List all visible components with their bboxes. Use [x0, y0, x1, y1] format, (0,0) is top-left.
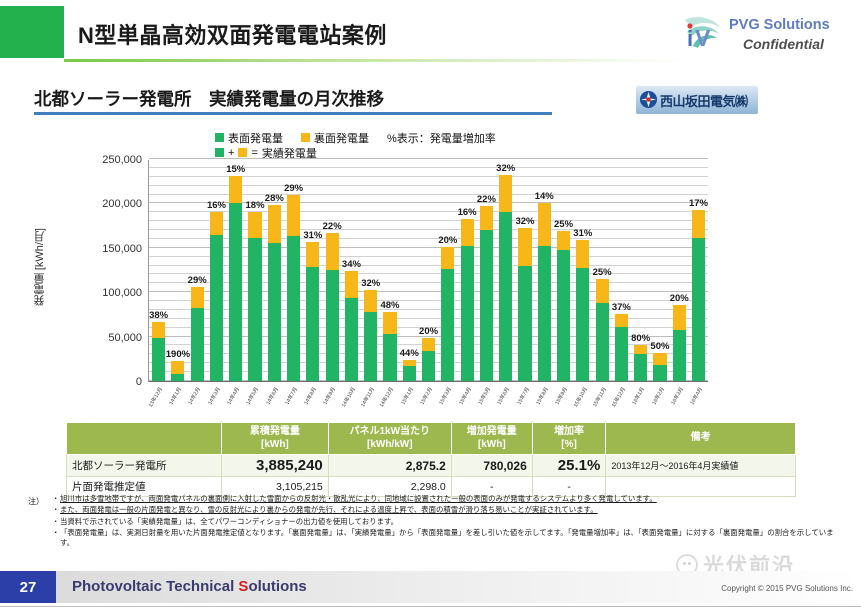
bar-percent-label: 28%: [265, 193, 284, 204]
bar-slot[interactable]: 17%: [689, 160, 708, 381]
bar-stack[interactable]: 15%: [229, 176, 242, 381]
bar-percent-label: 22%: [323, 221, 342, 232]
bar-slot[interactable]: 16%: [207, 160, 226, 381]
bar-slot[interactable]: 20%: [419, 160, 438, 381]
x-axis-tick-label: 14年2月: [187, 386, 203, 406]
bar-segment-back[interactable]: [576, 240, 589, 268]
bar-segment-front[interactable]: [518, 266, 531, 381]
x-axis-tick-label: 16年2月: [650, 386, 666, 406]
bar-slot[interactable]: 37%: [612, 160, 631, 381]
x-axis-label-slot: 16年2月: [650, 384, 669, 410]
bar-percent-label: 44%: [400, 348, 419, 359]
footnote-text: また、両面発電は一般の片面発電と異なり、雪の反射光により裏からの発電が先行、それ…: [60, 505, 838, 515]
x-axis-tick-label: 15年5月: [476, 386, 492, 406]
page-number: 27: [0, 571, 56, 603]
y-axis-tick-label: 150,000: [102, 243, 142, 255]
page-title: N型単晶高効双面発電電站案例: [78, 18, 387, 50]
legend-label-front: 表面発電量: [228, 130, 283, 146]
bar-slot[interactable]: 29%: [284, 160, 303, 381]
x-axis-tick-label: 14年10月: [340, 386, 357, 408]
y-axis-tick-label: 250,000: [102, 154, 142, 166]
x-axis-label-slot: 14年7月: [283, 384, 302, 410]
x-axis-tick-label: 14年11月: [359, 386, 376, 408]
x-axis-tick-label: 13年12月: [147, 386, 164, 408]
header-divider: [64, 59, 684, 62]
x-axis-tick-label: 15年12月: [610, 386, 627, 408]
bar-segment-front[interactable]: [634, 354, 647, 381]
bar-percent-label: 22%: [477, 194, 496, 205]
bar-segment-front[interactable]: [615, 327, 628, 381]
bar-stack[interactable]: 50%: [653, 353, 666, 381]
x-axis-tick-label: 14年8月: [303, 386, 319, 406]
pvg-logo: i V PVG Solutions Confidential: [671, 10, 851, 60]
bar-percent-label: 38%: [149, 310, 168, 321]
bar-segment-front[interactable]: [326, 270, 339, 381]
bar-segment-back[interactable]: [210, 212, 223, 235]
x-axis-tick-label: 16年1月: [631, 386, 647, 406]
bar-stack[interactable]: 16%: [210, 212, 223, 381]
bar-segment-front[interactable]: [576, 268, 589, 381]
table-header-cell: パネル1kW当たり[kWh/kW]: [328, 423, 451, 455]
table-header-cell: 増加発電量[kWh]: [451, 423, 532, 455]
footnote-text: 「表面発電量」は、実測日射量を用いた片面発電推定値となります。「裏面発電量」は、…: [60, 528, 838, 548]
x-axis-tick-label: 14年6月: [264, 386, 280, 406]
x-axis-label-slot: 14年4月: [225, 384, 244, 410]
bar-percent-label: 50%: [650, 341, 669, 352]
bar-percent-label: 80%: [631, 333, 650, 344]
bar-segment-back[interactable]: [596, 279, 609, 303]
bar-slot[interactable]: 48%: [380, 160, 399, 381]
bar-percent-label: 15%: [226, 164, 245, 175]
bar-segment-back[interactable]: [229, 176, 242, 203]
x-axis-tick-label: 15年2月: [419, 386, 435, 406]
x-axis-label-slot: 15年2月: [418, 384, 437, 410]
table-header-cell: 増加率[%]: [532, 423, 606, 455]
bar-segment-back[interactable]: [287, 195, 300, 237]
bar-segment-back[interactable]: [461, 219, 474, 246]
bar-stack[interactable]: 34%: [345, 271, 358, 381]
bar-segment-front[interactable]: [248, 238, 261, 381]
bar-stack[interactable]: 37%: [615, 314, 628, 381]
copyright-notice: Copyright © 2015 PVG Solutions Inc.: [721, 584, 853, 593]
bar-segment-back[interactable]: [480, 206, 493, 230]
bar-slot[interactable]: 28%: [265, 160, 284, 381]
bar-stack[interactable]: 31%: [306, 242, 319, 381]
svg-text:i: i: [687, 26, 693, 51]
x-axis-label-slot: 15年12月: [612, 384, 631, 410]
bar-segment-back[interactable]: [557, 231, 570, 250]
bar-slot[interactable]: 190%: [168, 160, 187, 381]
bar-segment-back[interactable]: [345, 271, 358, 298]
bar-segment-back[interactable]: [673, 305, 686, 331]
legend-swatch-front-icon: [215, 133, 224, 142]
bar-percent-label: 32%: [496, 163, 515, 174]
x-axis-labels: 13年12月14年1月14年2月14年3月14年4月14年5月14年6月14年7…: [148, 384, 708, 410]
x-axis-label-slot: 14年9月: [322, 384, 341, 410]
bar-percent-label: 31%: [303, 230, 322, 241]
legend-row-primary: 表面発電量 裏面発電量 %表示：発電量増加率: [215, 130, 496, 145]
y-axis-tick-label: 200,000: [102, 198, 142, 210]
table-body: 北都ソーラー発電所3,885,2402,875.2780,02625.1%201…: [67, 455, 796, 497]
bar-stack[interactable]: 32%: [499, 175, 512, 381]
bar-stack[interactable]: 17%: [692, 210, 705, 381]
table-header-cell: [67, 423, 222, 455]
x-axis-label-slot: 14年1月: [167, 384, 186, 410]
bar-segment-front[interactable]: [499, 212, 512, 381]
x-axis-label-slot: 14年8月: [303, 384, 322, 410]
bar-segment-back[interactable]: [326, 233, 339, 270]
bar-percent-label: 20%: [419, 326, 438, 337]
bar-segment-back[interactable]: [441, 247, 454, 269]
footnote-bullet-icon: ・: [52, 505, 60, 515]
x-axis-label-slot: 15年4月: [457, 384, 476, 410]
bar-percent-label: 190%: [166, 349, 190, 360]
bar-percent-label: 29%: [188, 275, 207, 286]
svg-text:V: V: [695, 25, 711, 51]
bar-stack[interactable]: 28%: [268, 205, 281, 381]
bar-segment-front[interactable]: [229, 203, 242, 381]
chart: 発電量 [kWh/月] 050,000100,000150,000200,000…: [30, 152, 720, 410]
chart-title-divider: [34, 112, 552, 115]
x-axis-tick-label: 14年12月: [378, 386, 395, 408]
bar-segment-back[interactable]: [191, 287, 204, 308]
bar-slot[interactable]: 32%: [515, 160, 534, 381]
y-axis-tick-label: 100,000: [102, 287, 142, 299]
bar-stack[interactable]: 14%: [538, 203, 551, 381]
bar-segment-front[interactable]: [306, 267, 319, 381]
bar-stack[interactable]: 16%: [461, 219, 474, 381]
x-axis-label-slot: 16年1月: [631, 384, 650, 410]
x-axis-label-slot: 15年10月: [573, 384, 592, 410]
footer-title-pre: Photovoltaic Technical: [72, 578, 238, 595]
bar-slot[interactable]: 32%: [496, 160, 515, 381]
x-axis-label-slot: 14年11月: [360, 384, 379, 410]
bar-slot[interactable]: 44%: [400, 160, 419, 381]
chart-title: 北都ソーラー発電所 実績発電量の月次推移: [34, 86, 384, 111]
bar-segment-front[interactable]: [422, 351, 435, 381]
table-row: 北都ソーラー発電所3,885,2402,875.2780,02625.1%201…: [67, 455, 796, 477]
x-axis-label-slot: 15年6月: [496, 384, 515, 410]
footnote-item: ・また、両面発電は一般の片面発電と異なり、雪の反射光により裏からの発電が先行、そ…: [52, 505, 838, 515]
bar-stack[interactable]: 18%: [248, 212, 261, 381]
pvg-logo-icon: i V: [679, 12, 727, 56]
bar-percent-label: 34%: [342, 259, 361, 270]
bar-slot[interactable]: 18%: [245, 160, 264, 381]
x-axis-label-slot: 15年3月: [438, 384, 457, 410]
bar-segment-back[interactable]: [615, 314, 628, 327]
bar-percent-label: 16%: [207, 200, 226, 211]
table-header-row: 累積発電量[kWh]パネル1kW当たり[kWh/kW]増加発電量[kWh]増加率…: [67, 423, 796, 455]
x-axis-label-slot: 15年1月: [399, 384, 418, 410]
x-axis-tick-label: 16年4月: [689, 386, 705, 406]
x-axis-label-slot: 15年5月: [476, 384, 495, 410]
bar-percent-label: 20%: [670, 293, 689, 304]
bar-slot[interactable]: 80%: [631, 160, 650, 381]
bar-slot[interactable]: 31%: [573, 160, 592, 381]
y-axis-tick-label: 0: [136, 376, 142, 388]
bar-stack[interactable]: 22%: [326, 233, 339, 381]
footer-title-accent: S: [238, 578, 248, 595]
footnote-text: 当資料で示されている「実績発電量」は、全てパワーコンディショナーの出力値を使用し…: [60, 517, 838, 527]
footnote-item: ・旭川市は多雪地帯ですが、両面発電パネルの裏面側に入射した雪面からの反射光・散乱…: [52, 494, 838, 504]
bar-segment-back[interactable]: [653, 353, 666, 365]
bar-stack[interactable]: 44%: [403, 360, 416, 381]
bar-stack[interactable]: 25%: [596, 279, 609, 381]
bar-stack[interactable]: 32%: [364, 290, 377, 381]
footnotes-label: 注）: [28, 496, 44, 507]
bar-stack[interactable]: 38%: [152, 322, 165, 381]
legend-label-back: 裏面発電量: [314, 130, 369, 146]
bar-segment-front[interactable]: [461, 246, 474, 381]
x-axis-label-slot: 14年2月: [187, 384, 206, 410]
x-axis-label-slot: 16年3月: [669, 384, 688, 410]
summary-table: 累積発電量[kWh]パネル1kW当たり[kWh/kW]増加発電量[kWh]増加率…: [66, 422, 796, 497]
bar-segment-front[interactable]: [364, 312, 377, 381]
bar-slot[interactable]: 31%: [303, 160, 322, 381]
bar-segment-front[interactable]: [692, 238, 705, 381]
x-axis-tick-label: 14年7月: [283, 386, 299, 406]
bar-segment-front[interactable]: [171, 374, 184, 381]
bar-segment-front[interactable]: [403, 366, 416, 381]
table-header-cell: 備考: [606, 423, 796, 455]
x-axis-label-slot: 15年9月: [554, 384, 573, 410]
bar-percent-label: 18%: [246, 200, 265, 211]
bar-percent-label: 14%: [535, 191, 554, 202]
partner-logo-text: 西山坂田電気㈱: [660, 91, 748, 110]
bar-segment-front[interactable]: [538, 246, 551, 381]
bar-segment-back[interactable]: [268, 205, 281, 243]
row-label: 北都ソーラー発電所: [67, 455, 222, 477]
bar-stack[interactable]: 31%: [576, 240, 589, 381]
bar-slot[interactable]: 50%: [650, 160, 669, 381]
footer-title: Photovoltaic Technical Solutions: [72, 578, 307, 595]
increase-value: 780,026: [451, 455, 532, 477]
bar-percent-label: 32%: [361, 278, 380, 289]
table-head: 累積発電量[kWh]パネル1kW当たり[kWh/kW]増加発電量[kWh]増加率…: [67, 423, 796, 455]
bar-slot[interactable]: 29%: [188, 160, 207, 381]
x-axis-tick-label: 15年11月: [591, 386, 608, 408]
bar-percent-label: 20%: [438, 235, 457, 246]
bar-slot[interactable]: 25%: [554, 160, 573, 381]
bar-slot[interactable]: 22%: [323, 160, 342, 381]
bar-segment-front[interactable]: [210, 235, 223, 381]
pvg-logo-text: PVG Solutions: [729, 17, 830, 33]
x-axis-tick-label: 15年3月: [438, 386, 454, 406]
legend-note-percent: %表示：発電量増加率: [387, 130, 496, 146]
cumulative-value: 3,885,240: [222, 455, 329, 477]
bar-slot[interactable]: 16%: [458, 160, 477, 381]
bar-segment-front[interactable]: [152, 338, 165, 381]
x-axis-tick-label: 16年3月: [670, 386, 686, 406]
legend-swatch-back-icon: [301, 133, 310, 142]
bar-slot[interactable]: 14%: [535, 160, 554, 381]
bar-segment-back[interactable]: [634, 345, 647, 355]
bar-slot[interactable]: 20%: [438, 160, 457, 381]
y-axis-title: 発電量 [kWh/月]: [32, 228, 48, 306]
bar-segment-front[interactable]: [653, 365, 666, 381]
note-value: 2013年12月～2016年4月実績値: [606, 455, 796, 477]
bar-segment-back[interactable]: [152, 322, 165, 338]
bar-percent-label: 25%: [593, 267, 612, 278]
bar-slot[interactable]: 34%: [342, 160, 361, 381]
x-axis-tick-label: 15年10月: [572, 386, 589, 408]
bar-stack[interactable]: 20%: [441, 247, 454, 381]
partner-logo-icon: [639, 90, 658, 109]
footnote-text: 旭川市は多雪地帯ですが、両面発電パネルの裏面側に入射した雪面からの反射光・散乱光…: [60, 494, 838, 504]
x-axis-tick-label: 15年7月: [515, 386, 531, 406]
x-axis-tick-label: 14年9月: [322, 386, 338, 406]
footnotes: 注） ・旭川市は多雪地帯ですが、両面発電パネルの裏面側に入射した雪面からの反射光…: [28, 494, 838, 550]
bar-percent-label: 25%: [554, 219, 573, 230]
bar-stack[interactable]: 22%: [480, 206, 493, 381]
y-axis-ticks: 050,000100,000150,000200,000250,000: [70, 152, 146, 390]
bar-segment-front[interactable]: [596, 303, 609, 381]
plot-area: 38%190%29%16%15%18%28%29%31%22%34%32%48%…: [148, 160, 708, 382]
x-axis-tick-label: 15年1月: [399, 386, 415, 406]
bar-segment-front[interactable]: [383, 334, 396, 381]
footnote-item: ・「表面発電量」は、実測日射量を用いた片面発電推定値となります。「裏面発電量」は…: [52, 528, 838, 548]
x-axis-label-slot: 13年12月: [148, 384, 167, 410]
per-kw-value: 2,875.2: [328, 455, 451, 477]
bar-slot[interactable]: 15%: [226, 160, 245, 381]
bar-segment-front[interactable]: [191, 308, 204, 381]
bar-percent-label: 32%: [515, 216, 534, 227]
bar-segment-back[interactable]: [383, 312, 396, 334]
bar-segment-front[interactable]: [441, 269, 454, 381]
bar-segment-back[interactable]: [538, 203, 551, 246]
gridline: [149, 158, 708, 159]
x-axis-tick-label: 15年6月: [496, 386, 512, 406]
x-axis-label-slot: 15年8月: [534, 384, 553, 410]
bar-percent-label: 37%: [612, 302, 631, 313]
x-axis-label-slot: 14年10月: [341, 384, 360, 410]
bar-segment-back[interactable]: [499, 175, 512, 212]
slide-footer: 27 Photovoltaic Technical Solutions Copy…: [0, 568, 861, 609]
footer-title-post: olutions: [248, 578, 306, 595]
x-axis-tick-label: 14年4月: [225, 386, 241, 406]
x-axis-tick-label: 15年4月: [457, 386, 473, 406]
bar-segment-front[interactable]: [557, 250, 570, 381]
bar-segment-back[interactable]: [364, 290, 377, 312]
bar-stack[interactable]: 20%: [422, 338, 435, 382]
x-axis-tick-label: 15年8月: [534, 386, 550, 406]
x-axis-label-slot: 14年6月: [264, 384, 283, 410]
bar-slot[interactable]: 32%: [361, 160, 380, 381]
bar-segment-front[interactable]: [345, 298, 358, 381]
footnotes-list: ・旭川市は多雪地帯ですが、両面発電パネルの裏面側に入射した雪面からの反射光・散乱…: [52, 494, 838, 548]
bar-percent-label: 31%: [573, 228, 592, 239]
x-axis-tick-label: 14年1月: [167, 386, 183, 406]
bar-percent-label: 16%: [458, 207, 477, 218]
bar-stack[interactable]: 29%: [287, 195, 300, 381]
x-axis-tick-label: 14年5月: [245, 386, 261, 406]
bar-slot[interactable]: 20%: [670, 160, 689, 381]
x-axis-tick-label: 15年9月: [554, 386, 570, 406]
bar-stack[interactable]: 80%: [634, 345, 647, 381]
x-axis-label-slot: 16年4月: [689, 384, 708, 410]
bar-stack[interactable]: 25%: [557, 231, 570, 381]
header-accent-block: [0, 6, 64, 58]
footer-divider: [0, 606, 861, 607]
bar-slot[interactable]: 22%: [477, 160, 496, 381]
x-axis-label-slot: 14年5月: [245, 384, 264, 410]
partner-logo: 西山坂田電気㈱: [636, 86, 758, 114]
bar-segment-front[interactable]: [287, 236, 300, 381]
bar-percent-label: 48%: [380, 300, 399, 311]
footnote-item: ・当資料で示されている「実績発電量」は、全てパワーコンディショナーの出力値を使用…: [52, 517, 838, 527]
bar-segment-back[interactable]: [518, 228, 531, 265]
slide-header: N型単晶高効双面発電電站案例 i V PVG Solutions Confide…: [0, 0, 861, 66]
footnote-bullet-icon: ・: [52, 528, 60, 548]
x-axis-tick-label: 14年3月: [206, 386, 222, 406]
table-header-cell: 累積発電量[kWh]: [222, 423, 329, 455]
bar-stack[interactable]: 48%: [383, 312, 396, 381]
x-axis-label-slot: 14年12月: [380, 384, 399, 410]
x-axis-label-slot: 15年7月: [515, 384, 534, 410]
bar-slot[interactable]: 25%: [592, 160, 611, 381]
bar-stack[interactable]: 32%: [518, 228, 531, 381]
footnote-bullet-icon: ・: [52, 517, 60, 527]
x-axis-label-slot: 14年3月: [206, 384, 225, 410]
rate-value: 25.1%: [532, 455, 606, 477]
bar-segment-back[interactable]: [248, 212, 261, 238]
bar-percent-label: 29%: [284, 183, 303, 194]
footnote-bullet-icon: ・: [52, 494, 60, 504]
bar-segment-front[interactable]: [673, 330, 686, 381]
bar-stack[interactable]: 29%: [191, 287, 204, 381]
bar-segment-back[interactable]: [306, 242, 319, 267]
y-axis-tick-label: 50,000: [108, 332, 142, 344]
bar-segment-back[interactable]: [692, 210, 705, 238]
bar-stack[interactable]: 190%: [171, 361, 184, 381]
bar-segment-back[interactable]: [171, 361, 184, 374]
bar-segment-front[interactable]: [480, 230, 493, 381]
bar-segment-back[interactable]: [422, 338, 435, 351]
bar-stack[interactable]: 20%: [673, 305, 686, 381]
bar-series: 38%190%29%16%15%18%28%29%31%22%34%32%48%…: [149, 160, 708, 381]
bar-segment-front[interactable]: [268, 243, 281, 381]
confidential-label: Confidential: [743, 36, 824, 52]
bar-percent-label: 17%: [689, 198, 708, 209]
x-axis-label-slot: 15年11月: [592, 384, 611, 410]
